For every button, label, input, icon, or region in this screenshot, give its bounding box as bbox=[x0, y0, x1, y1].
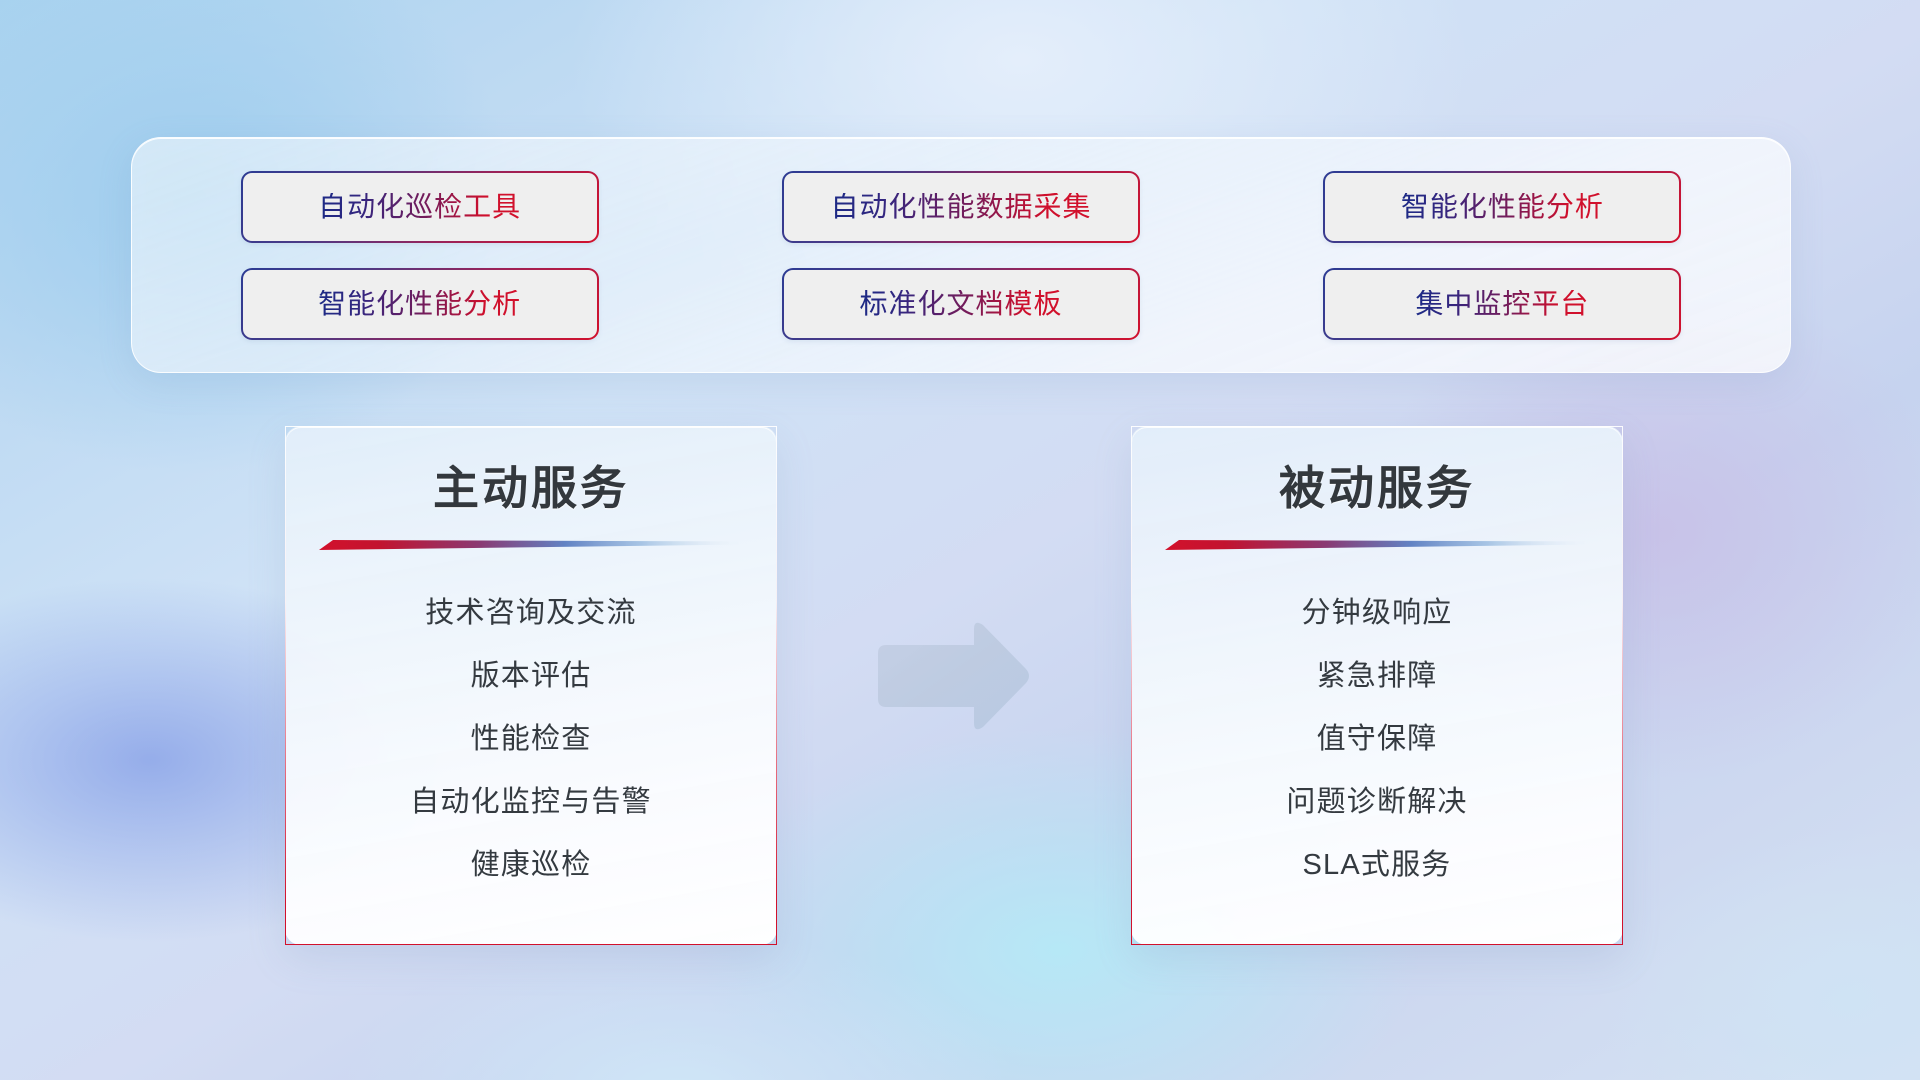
capability-pill-label: 自动化巡检工具 bbox=[318, 193, 521, 221]
service-item: 健康巡检 bbox=[286, 834, 776, 897]
service-item: 值守保障 bbox=[1132, 708, 1622, 771]
capability-pill-label: 智能化性能分析 bbox=[318, 290, 521, 318]
capability-pill-label: 自动化性能数据采集 bbox=[830, 193, 1091, 221]
title-divider bbox=[1165, 536, 1589, 552]
service-card-title: 主动服务 bbox=[286, 463, 776, 514]
capability-pill-grid: 自动化巡检工具 自动化性能数据采集 智能化性能分析 智能化性能分析 标准化文档模… bbox=[132, 138, 1790, 372]
service-item: 性能检查 bbox=[286, 708, 776, 771]
service-card-reactive: 被动服务 分钟级响应 紧急排障 bbox=[1131, 426, 1623, 945]
service-card-proactive: 主动服务 技术咨询及交流 版本评估 bbox=[285, 426, 777, 945]
service-item: 自动化监控与告警 bbox=[286, 771, 776, 834]
service-card-title: 被动服务 bbox=[1132, 463, 1622, 514]
capability-pill[interactable]: 智能化性能分析 bbox=[1323, 171, 1681, 243]
service-item: 分钟级响应 bbox=[1132, 582, 1622, 645]
capability-pill-label: 标准化文档模板 bbox=[859, 290, 1062, 318]
service-item: 版本评估 bbox=[286, 645, 776, 708]
title-divider bbox=[319, 536, 743, 552]
service-item-list: 技术咨询及交流 版本评估 性能检查 自动化监控与告警 健康巡检 bbox=[286, 582, 776, 897]
capability-pill[interactable]: 智能化性能分析 bbox=[241, 268, 599, 340]
capabilities-panel: 自动化巡检工具 自动化性能数据采集 智能化性能分析 智能化性能分析 标准化文档模… bbox=[131, 137, 1791, 373]
service-item-list: 分钟级响应 紧急排障 值守保障 问题诊断解决 SLA式服务 bbox=[1132, 582, 1622, 897]
capability-pill[interactable]: 标准化文档模板 bbox=[782, 268, 1140, 340]
slide-canvas: 自动化巡检工具 自动化性能数据采集 智能化性能分析 智能化性能分析 标准化文档模… bbox=[0, 0, 1920, 1080]
capability-pill-label: 智能化性能分析 bbox=[1401, 193, 1604, 221]
capability-pill[interactable]: 自动化巡检工具 bbox=[241, 171, 599, 243]
arrow-right-icon bbox=[872, 619, 1032, 734]
service-item: SLA式服务 bbox=[1132, 834, 1622, 897]
capability-pill[interactable]: 自动化性能数据采集 bbox=[782, 171, 1140, 243]
service-item: 紧急排障 bbox=[1132, 645, 1622, 708]
service-item: 问题诊断解决 bbox=[1132, 771, 1622, 834]
service-item: 技术咨询及交流 bbox=[286, 582, 776, 645]
capability-pill[interactable]: 集中监控平台 bbox=[1323, 268, 1681, 340]
capability-pill-label: 集中监控平台 bbox=[1415, 290, 1589, 318]
